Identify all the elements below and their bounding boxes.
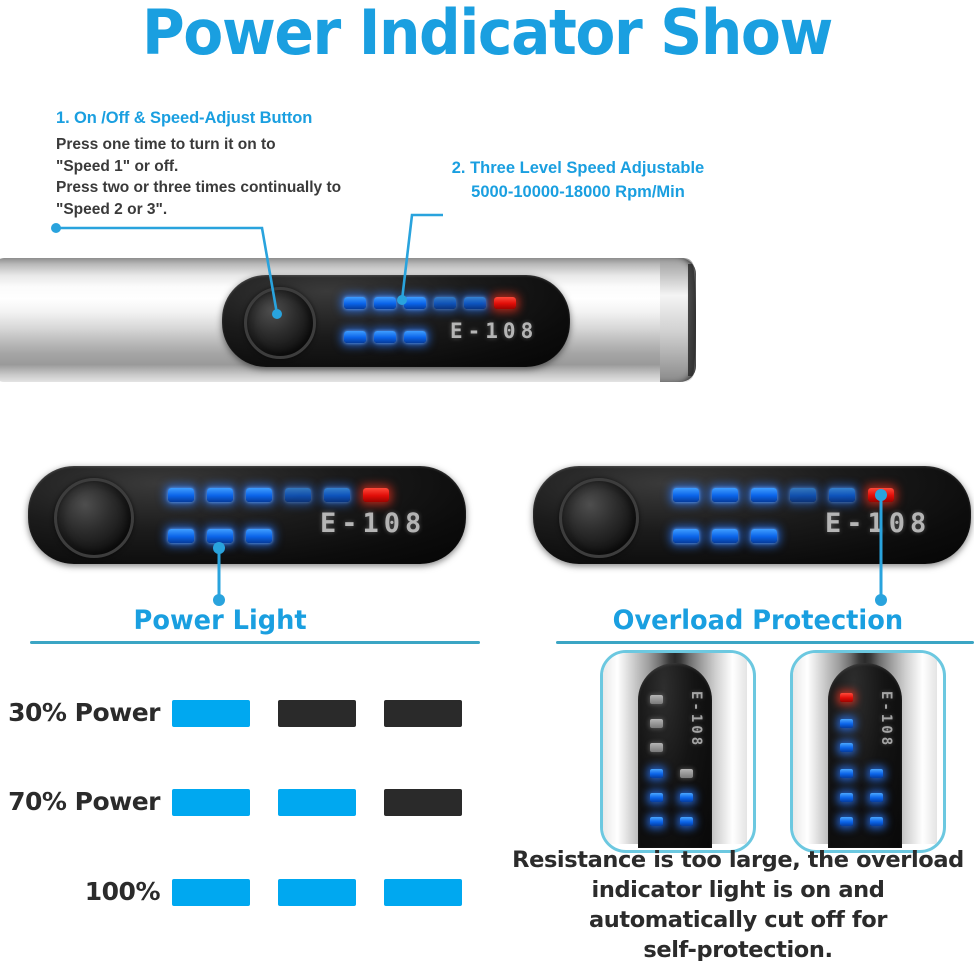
infographic-page: Power Indicator Show 1. On /Off & Speed-… — [0, 0, 974, 961]
device-model-label: E-108 — [825, 508, 931, 539]
inset-led-left-3 — [840, 743, 853, 752]
inset-led-left-6 — [650, 817, 663, 826]
overload-caption: Resistance is too large, the overload in… — [508, 845, 968, 961]
power-button-knob[interactable] — [244, 287, 316, 359]
page-title: Power Indicator Show — [29, 0, 945, 69]
section-heading-overload: Overload Protection — [613, 605, 903, 636]
control-panel-overload: E-108 — [533, 466, 971, 564]
power-row-label: 100% — [0, 871, 160, 911]
led-top-1 — [344, 297, 366, 309]
power-bar-1 — [172, 700, 250, 727]
annotation-1-body: Press one time to turn it on to "Speed 1… — [56, 134, 341, 220]
inset-led-left-1 — [650, 695, 663, 704]
led-top-3 — [404, 297, 426, 309]
inset-panel: E-108 — [638, 663, 712, 848]
led-overload-indicator — [363, 488, 389, 502]
led-bottom-1 — [344, 331, 366, 343]
annotation-1-heading: 1. On /Off & Speed-Adjust Button — [56, 109, 312, 128]
power-row-70: 70% Power — [0, 781, 490, 821]
divider-left — [30, 641, 480, 644]
annotation-2: 2. Three Level Speed Adjustable 5000-100… — [413, 156, 743, 204]
inset-led-right-2 — [680, 793, 693, 802]
device-model-label: E-108 — [320, 508, 426, 539]
overload-caption-line-2: indicator light is on and — [508, 875, 968, 905]
divider-right — [556, 641, 974, 644]
inset-led-left-2 — [840, 719, 853, 728]
device-model-label: E-108 — [688, 691, 704, 748]
led-top-4 — [790, 488, 816, 502]
led-bottom-3 — [246, 529, 272, 543]
led-top-2 — [712, 488, 738, 502]
inset-led-right-2 — [870, 793, 883, 802]
led-bottom-3 — [404, 331, 426, 343]
led-top-5 — [324, 488, 350, 502]
inset-led-left-6 — [840, 817, 853, 826]
led-top-2 — [374, 297, 396, 309]
inset-led-right-3 — [680, 817, 693, 826]
overload-caption-line-4: self-protection. — [508, 935, 968, 961]
led-bottom-2 — [207, 529, 233, 543]
device-model-label: E-108 — [450, 319, 538, 343]
power-row-100: 100% — [0, 871, 490, 911]
section-heading-power-light: Power Light — [134, 605, 307, 636]
led-top-3 — [246, 488, 272, 502]
power-bar-2 — [278, 789, 356, 816]
power-bar-1 — [172, 789, 250, 816]
inset-led-left-4 — [840, 769, 853, 778]
power-button-knob[interactable] — [559, 478, 639, 558]
led-top-1 — [673, 488, 699, 502]
led-bottom-1 — [673, 529, 699, 543]
power-bar-3 — [384, 789, 462, 816]
control-panel-main: E-108 — [222, 275, 570, 367]
led-bottom-1 — [168, 529, 194, 543]
led-top-3 — [751, 488, 777, 502]
control-panel-power-light: E-108 — [28, 466, 466, 564]
power-bar-2 — [278, 879, 356, 906]
inset-led-right-3 — [870, 817, 883, 826]
led-top-5 — [829, 488, 855, 502]
power-button-knob[interactable] — [54, 478, 134, 558]
overload-caption-line-1: Resistance is too large, the overload — [508, 845, 968, 875]
inset-led-right-1 — [870, 769, 883, 778]
led-top-4 — [434, 297, 456, 309]
led-top-5 — [464, 297, 486, 309]
led-top-1 — [168, 488, 194, 502]
power-bar-1 — [172, 879, 250, 906]
device-model-label: E-108 — [878, 691, 894, 748]
power-row-label: 70% Power — [0, 781, 160, 821]
led-overload-indicator — [494, 297, 516, 309]
inset-led-left-2 — [650, 719, 663, 728]
overload-inset-normal: E-108 — [600, 650, 756, 853]
power-bar-2 — [278, 700, 356, 727]
overload-inset-triggered: E-108 — [790, 650, 946, 853]
overload-caption-line-3: automatically cut off for — [508, 905, 968, 935]
power-bar-3 — [384, 700, 462, 727]
annotation-2-line1: 2. Three Level Speed Adjustable — [413, 156, 743, 180]
pen-cap-edge — [688, 264, 696, 376]
led-top-2 — [207, 488, 233, 502]
led-overload-indicator — [868, 488, 894, 502]
led-top-4 — [285, 488, 311, 502]
inset-led-left-3 — [650, 743, 663, 752]
led-bottom-2 — [712, 529, 738, 543]
inset-panel: E-108 — [828, 663, 902, 848]
inset-led-left-4 — [650, 769, 663, 778]
inset-led-right-1 — [680, 769, 693, 778]
inset-led-left-5 — [840, 793, 853, 802]
led-bottom-3 — [751, 529, 777, 543]
power-row-label: 30% Power — [0, 692, 160, 732]
power-bar-3 — [384, 879, 462, 906]
inset-led-left-5 — [650, 793, 663, 802]
inset-led-overload — [840, 693, 853, 702]
annotation-2-line2: 5000-10000-18000 Rpm/Min — [413, 180, 743, 204]
led-bottom-2 — [374, 331, 396, 343]
power-row-30: 30% Power — [0, 692, 490, 732]
